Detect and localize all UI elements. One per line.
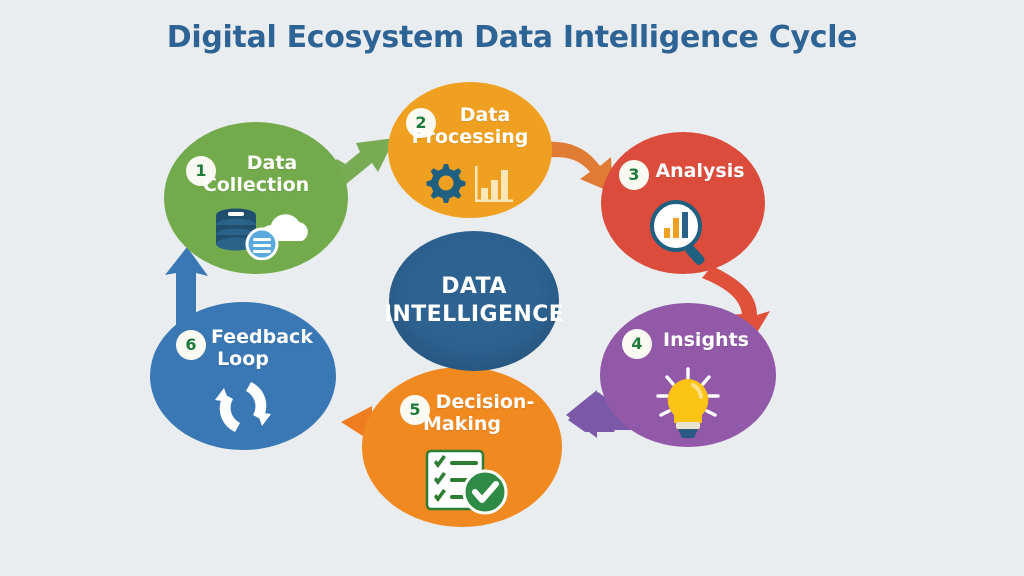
checklist-check-icon (362, 447, 562, 522)
node-data-collection[interactable]: 1 Data Collection (164, 122, 348, 274)
node-data-processing[interactable]: 2 Data Processing (388, 82, 552, 218)
node-badge-5: 5 (400, 395, 430, 425)
node-insights[interactable]: 4 Insights (600, 303, 776, 447)
node-badge-3: 3 (619, 160, 649, 190)
diagram-canvas: Digital Ecosystem Data Intelligence Cycl… (0, 0, 1024, 576)
node-analysis[interactable]: 3 Analysis (601, 132, 765, 274)
lightbulb-icon (600, 363, 776, 448)
node-feedback-loop[interactable]: 6 Feedback Loop (150, 302, 336, 450)
node-badge-2: 2 (406, 108, 436, 138)
node-badge-6: 6 (176, 330, 206, 360)
page-title: Digital Ecosystem Data Intelligence Cycl… (0, 20, 1024, 55)
node-badge-1: 1 (186, 156, 216, 186)
node-badge-4: 4 (622, 329, 652, 359)
hub-data-intelligence[interactable]: DATA INTELLIGENCE (389, 231, 559, 371)
node-label-decision-making: Decision- Making (362, 391, 562, 435)
hub-label: DATA INTELLIGENCE (384, 273, 564, 329)
refresh-loop-icon (150, 374, 336, 445)
database-cloud-icon (164, 202, 348, 265)
gear-barchart-icon (388, 158, 552, 211)
magnifier-barchart-icon (601, 198, 765, 273)
node-decision-making[interactable]: 5 Decision- Making (362, 367, 562, 527)
